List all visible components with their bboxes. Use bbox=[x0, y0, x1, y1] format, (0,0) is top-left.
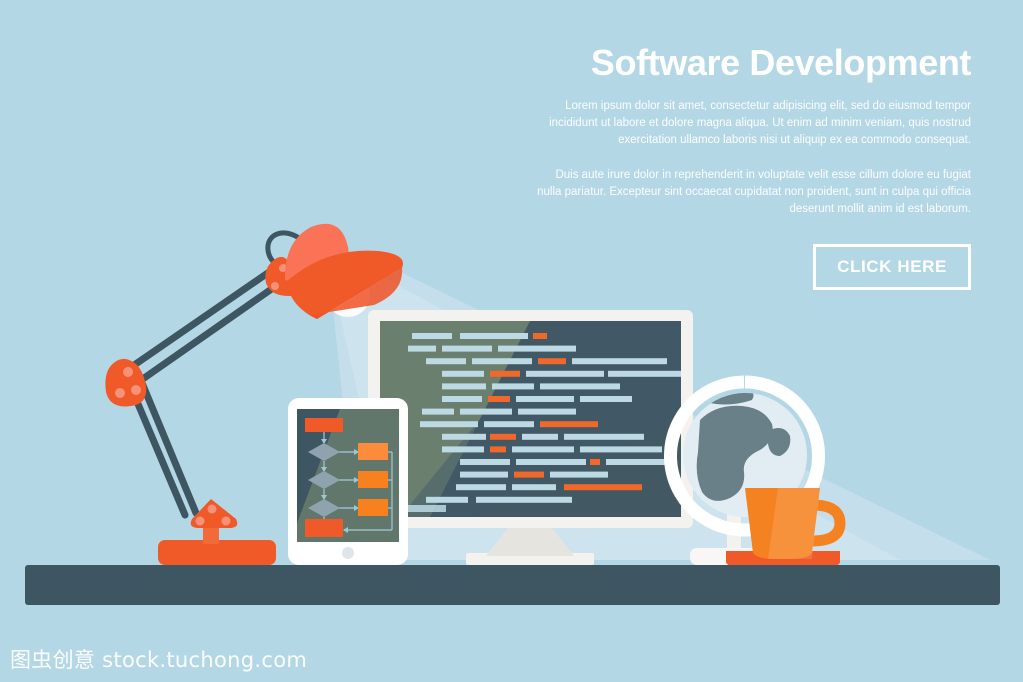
code-line-segment bbox=[522, 434, 558, 440]
flow-node-end bbox=[305, 524, 343, 537]
code-line-segment bbox=[514, 472, 544, 478]
code-line-segment bbox=[490, 446, 506, 452]
desktop-monitor bbox=[368, 310, 693, 565]
body-paragraph-1: Lorem ipsum dolor sit amet, consectetur … bbox=[531, 98, 971, 150]
code-line-segment bbox=[533, 333, 547, 339]
tablet bbox=[288, 398, 408, 565]
tablet-home-button bbox=[342, 547, 354, 559]
code-line-segment bbox=[518, 409, 576, 415]
cta-wrapper: CLICK HERE bbox=[531, 244, 971, 290]
code-line-segment bbox=[426, 358, 466, 364]
desk-surface bbox=[25, 565, 1000, 605]
code-line-segment bbox=[426, 497, 468, 503]
text-panel: Software Development Lorem ipsum dolor s… bbox=[531, 44, 971, 290]
code-line-segment bbox=[492, 383, 534, 389]
code-line-segment bbox=[422, 409, 454, 415]
stock-watermark: 图虫创意 stock.tuchong.com bbox=[10, 644, 307, 674]
code-line-segment bbox=[564, 484, 642, 490]
code-line-segment bbox=[476, 497, 572, 503]
illustration-banner: Software Development Lorem ipsum dolor s… bbox=[0, 0, 1023, 682]
code-line-segment bbox=[490, 371, 520, 377]
code-line-segment bbox=[442, 446, 484, 452]
code-line-segment bbox=[606, 459, 674, 465]
code-line-segment bbox=[408, 346, 436, 352]
code-line-segment bbox=[460, 459, 510, 465]
code-line-segment bbox=[420, 421, 478, 427]
code-line-segment bbox=[442, 383, 486, 389]
code-line-segment bbox=[442, 346, 492, 352]
code-line-segment bbox=[490, 434, 516, 440]
code-line-segment bbox=[608, 371, 684, 377]
code-line-segment bbox=[540, 421, 598, 427]
code-line-segment bbox=[472, 358, 532, 364]
code-line-segment bbox=[498, 346, 576, 352]
code-line-segment bbox=[442, 371, 484, 377]
code-line-segment bbox=[540, 383, 620, 389]
code-line-segment bbox=[516, 396, 574, 402]
code-line-segment bbox=[550, 472, 608, 478]
code-line-segment bbox=[488, 396, 510, 402]
code-line-segment bbox=[512, 484, 556, 490]
body-paragraph-2: Duis aute irure dolor in reprehenderit i… bbox=[531, 167, 971, 219]
code-line-segment bbox=[460, 333, 528, 339]
flow-node-branch-1 bbox=[358, 443, 388, 460]
code-line-segment bbox=[412, 333, 452, 339]
code-line-segment bbox=[456, 484, 506, 490]
code-line-segment bbox=[484, 421, 534, 427]
code-line-segment bbox=[590, 459, 600, 465]
code-line-segment bbox=[564, 434, 644, 440]
code-line-segment bbox=[516, 459, 586, 465]
code-line-segment bbox=[526, 371, 604, 377]
code-line-segment bbox=[442, 434, 486, 440]
click-here-button[interactable]: CLICK HERE bbox=[813, 244, 971, 290]
flow-node-branch-2 bbox=[358, 471, 388, 488]
code-line-segment bbox=[538, 358, 566, 364]
page-title: Software Development bbox=[531, 44, 971, 82]
code-line-segment bbox=[460, 472, 508, 478]
code-line-segment bbox=[580, 446, 662, 452]
code-line-segment bbox=[580, 396, 632, 402]
flow-node-start bbox=[305, 418, 343, 432]
code-line-segment bbox=[512, 446, 574, 452]
code-line-segment bbox=[460, 409, 512, 415]
flow-node-branch-3 bbox=[358, 499, 388, 516]
code-line-segment bbox=[572, 358, 667, 364]
code-line-segment bbox=[442, 396, 482, 402]
